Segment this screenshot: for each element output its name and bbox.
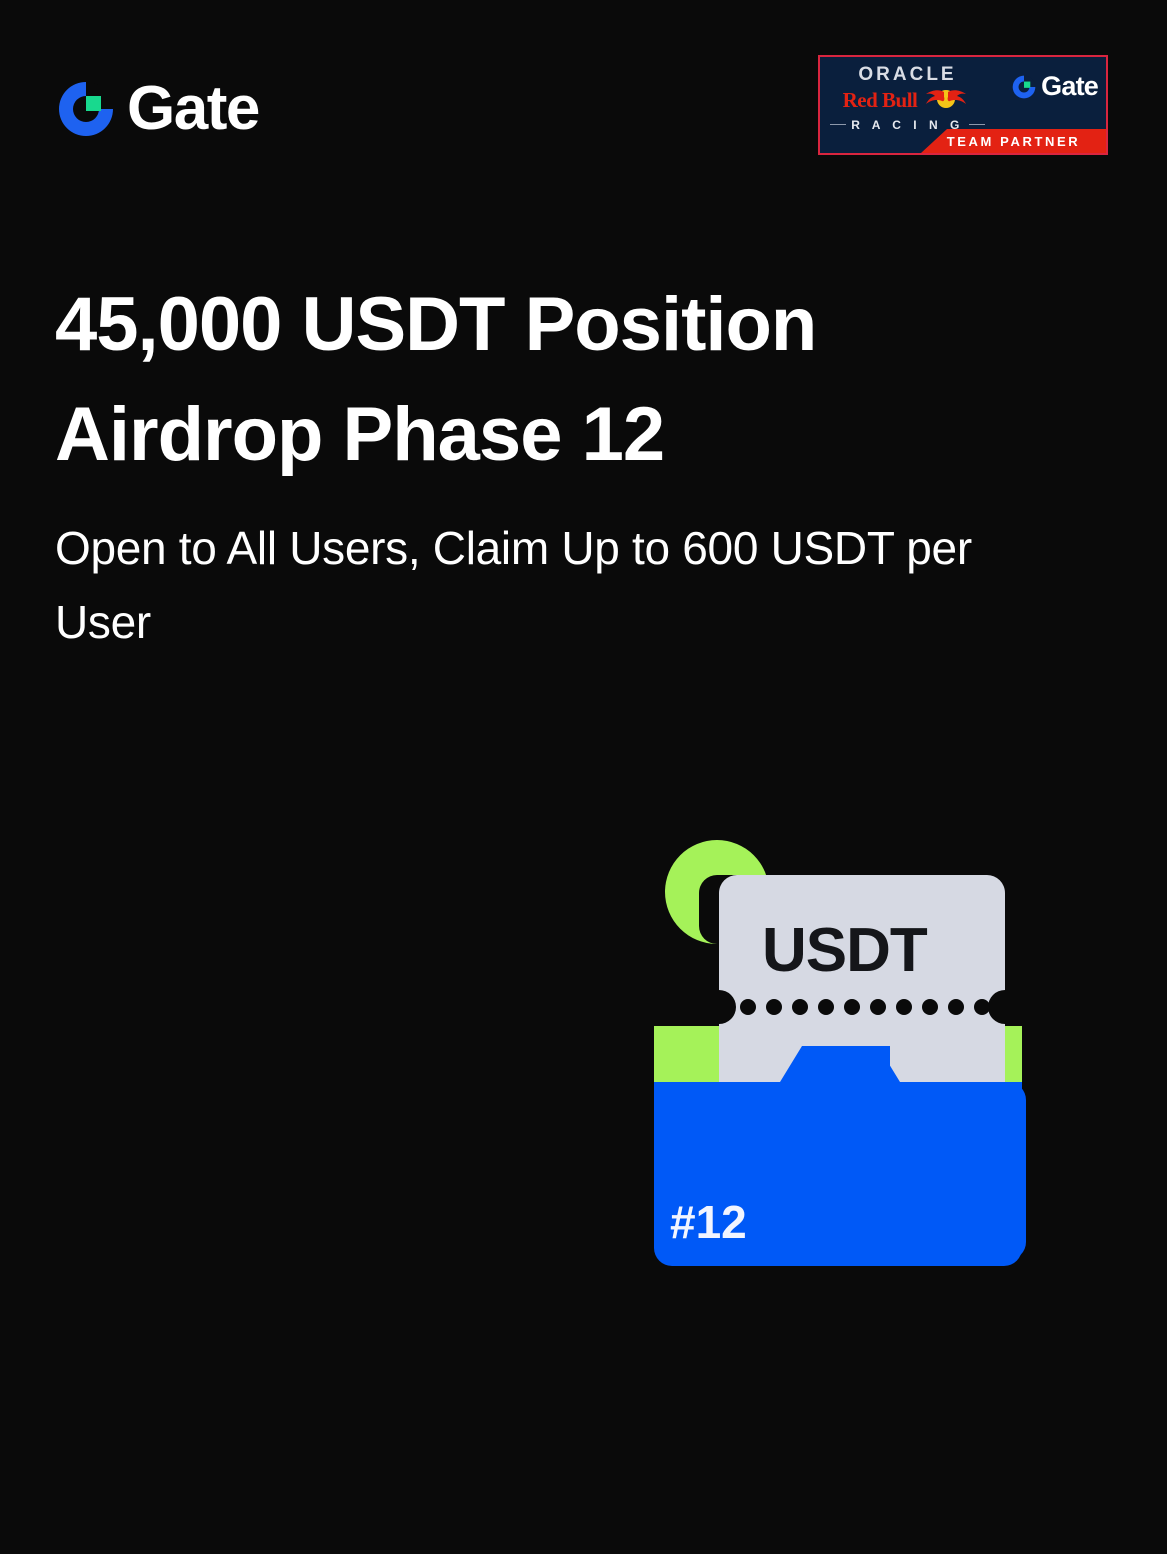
phase-number-label: #12: [670, 1195, 747, 1249]
badge-gate-logo: Gate: [1011, 73, 1098, 100]
red-bull-icon: [920, 86, 972, 115]
divider-left: [830, 124, 846, 125]
gate-wordmark: Gate: [127, 78, 259, 140]
gate-ring-icon: [1011, 74, 1037, 100]
red-bull-label: Red Bull: [843, 88, 918, 113]
gate-logo: Gate: [55, 78, 259, 140]
gate-ring-icon: [55, 78, 117, 140]
divider-right: [969, 124, 985, 125]
badge-gate-wordmark: Gate: [1041, 73, 1098, 100]
red-bull-team-partner-badge: ORACLE Red Bull R A C I N G: [818, 55, 1108, 155]
team-partner-banner: TEAM PARTNER: [921, 129, 1106, 153]
page-subtitle: Open to All Users, Claim Up to 600 USDT …: [55, 512, 1055, 659]
oracle-label: ORACLE: [830, 65, 985, 85]
voucher-currency-label: USDT: [762, 915, 927, 986]
red-bull-lockup: ORACLE Red Bull R A C I N G: [830, 65, 985, 132]
page-title: 45,000 USDT Position Airdrop Phase 12: [55, 270, 955, 490]
promo-banner: Gate ORACLE Red Bull R A C I N G: [0, 0, 1167, 1554]
usdt-voucher-folder-illustration: USDT #12: [640, 830, 1040, 1280]
